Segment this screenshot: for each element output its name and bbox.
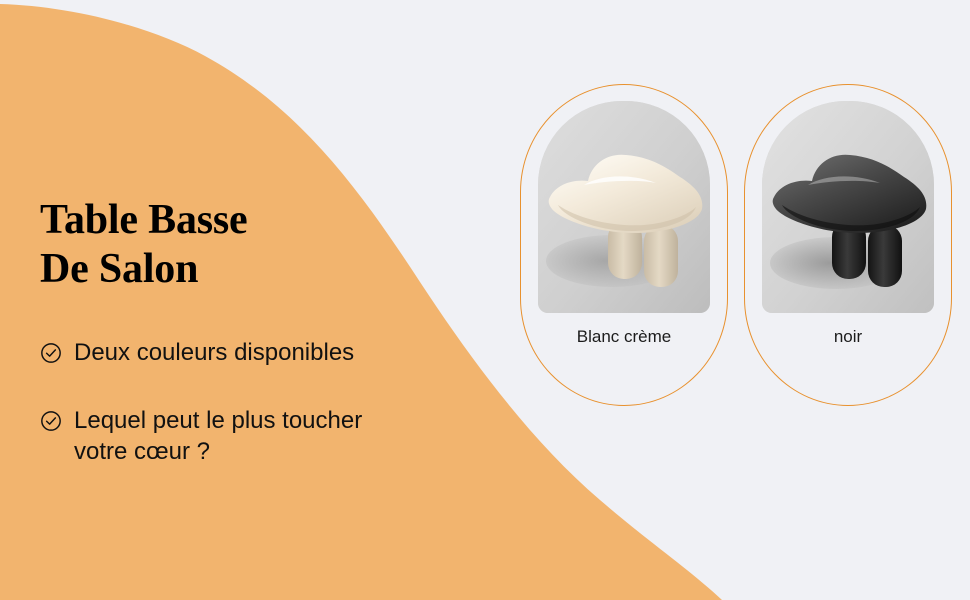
feature-list: Deux couleurs disponibles Lequel peut le… [40, 338, 520, 467]
list-item-label: Lequel peut le plus toucher votre cœur ? [74, 406, 362, 466]
circle-check-icon [40, 410, 62, 432]
promo-banner: Table Basse De Salon Deux couleurs dispo… [0, 0, 970, 600]
copy-block: Table Basse De Salon Deux couleurs dispo… [40, 196, 520, 467]
page-title: Table Basse De Salon [40, 196, 520, 294]
color-card-label: Blanc crème [577, 327, 671, 347]
color-card-label: noir [834, 327, 862, 347]
color-card-cream[interactable]: Blanc crème [520, 84, 728, 406]
list-item: Deux couleurs disponibles [40, 338, 520, 368]
coffee-table-black-photo [762, 101, 934, 313]
circle-check-icon [40, 342, 62, 364]
color-card-black[interactable]: noir [744, 84, 952, 406]
list-item: Lequel peut le plus toucher votre cœur ? [40, 406, 520, 466]
color-options: Blanc crème [520, 84, 952, 406]
list-item-label: Deux couleurs disponibles [74, 338, 354, 368]
coffee-table-cream-photo [538, 101, 710, 313]
